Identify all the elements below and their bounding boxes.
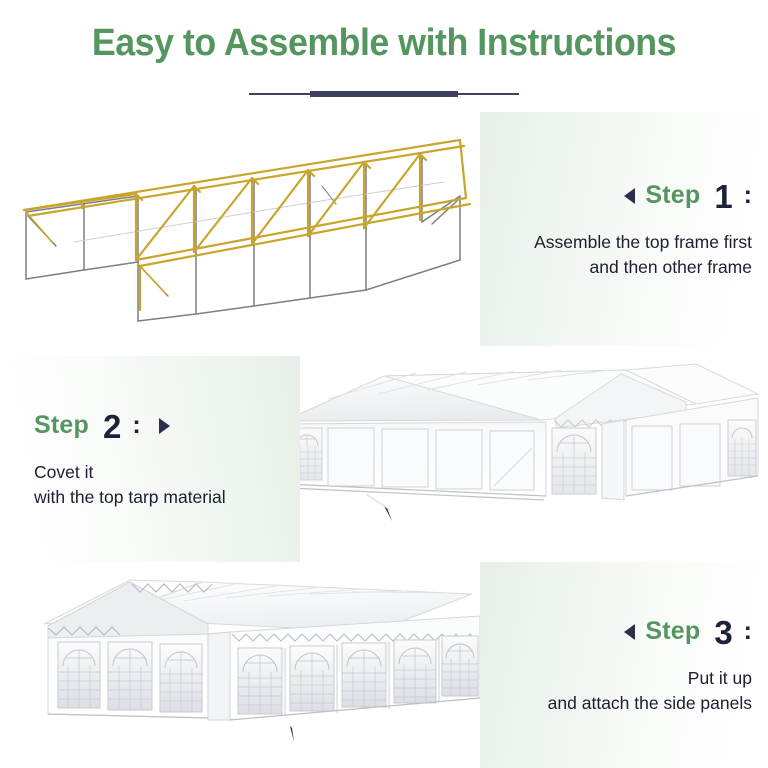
step-1-number: 1	[714, 180, 732, 213]
step-3-label: Step	[645, 617, 700, 646]
step-3-section: Step 3 : Put it up and attach the side p…	[0, 562, 768, 768]
triangle-left-icon	[624, 188, 635, 204]
step-2-number: 2	[103, 410, 121, 443]
step-2-section: Step 2 : Covet it with the top tarp mate…	[0, 356, 768, 562]
step-3-colon: :	[744, 617, 752, 646]
step-1-section: Step 1 : Assemble the top frame first an…	[0, 112, 768, 346]
triangle-right-icon	[159, 418, 170, 434]
step-1-text-panel: Step 1 : Assemble the top frame first an…	[480, 112, 768, 346]
header: Easy to Assemble with Instructions	[0, 0, 768, 112]
tent-with-top-tarp-illustration	[266, 358, 766, 548]
tent-complete-illustration	[2, 568, 502, 758]
triangle-left-icon	[624, 624, 635, 640]
title-divider	[249, 90, 519, 98]
tent-frame-skeleton-illustration	[14, 124, 484, 334]
step-2-colon: :	[132, 411, 140, 440]
instruction-graphic: Easy to Assemble with Instructions	[0, 0, 768, 768]
step-2-label: Step	[34, 411, 89, 440]
step-3-body: Put it up and attach the side panels	[496, 666, 752, 714]
step-1-colon: :	[744, 181, 752, 210]
step-3-number: 3	[714, 616, 732, 649]
step-3-text-panel: Step 3 : Put it up and attach the side p…	[480, 562, 768, 768]
page-title: Easy to Assemble with Instructions	[23, 22, 745, 65]
step-2-heading: Step 2 :	[34, 409, 284, 442]
step-1-body: Assemble the top frame first and then ot…	[496, 230, 752, 278]
divider-thick-line	[310, 91, 458, 97]
step-1-heading: Step 1 :	[496, 179, 752, 212]
step-2-text-panel: Step 2 : Covet it with the top tarp mate…	[0, 356, 300, 562]
step-3-heading: Step 3 :	[496, 615, 752, 648]
step-2-body: Covet it with the top tarp material	[34, 460, 284, 508]
step-1-label: Step	[645, 181, 700, 210]
